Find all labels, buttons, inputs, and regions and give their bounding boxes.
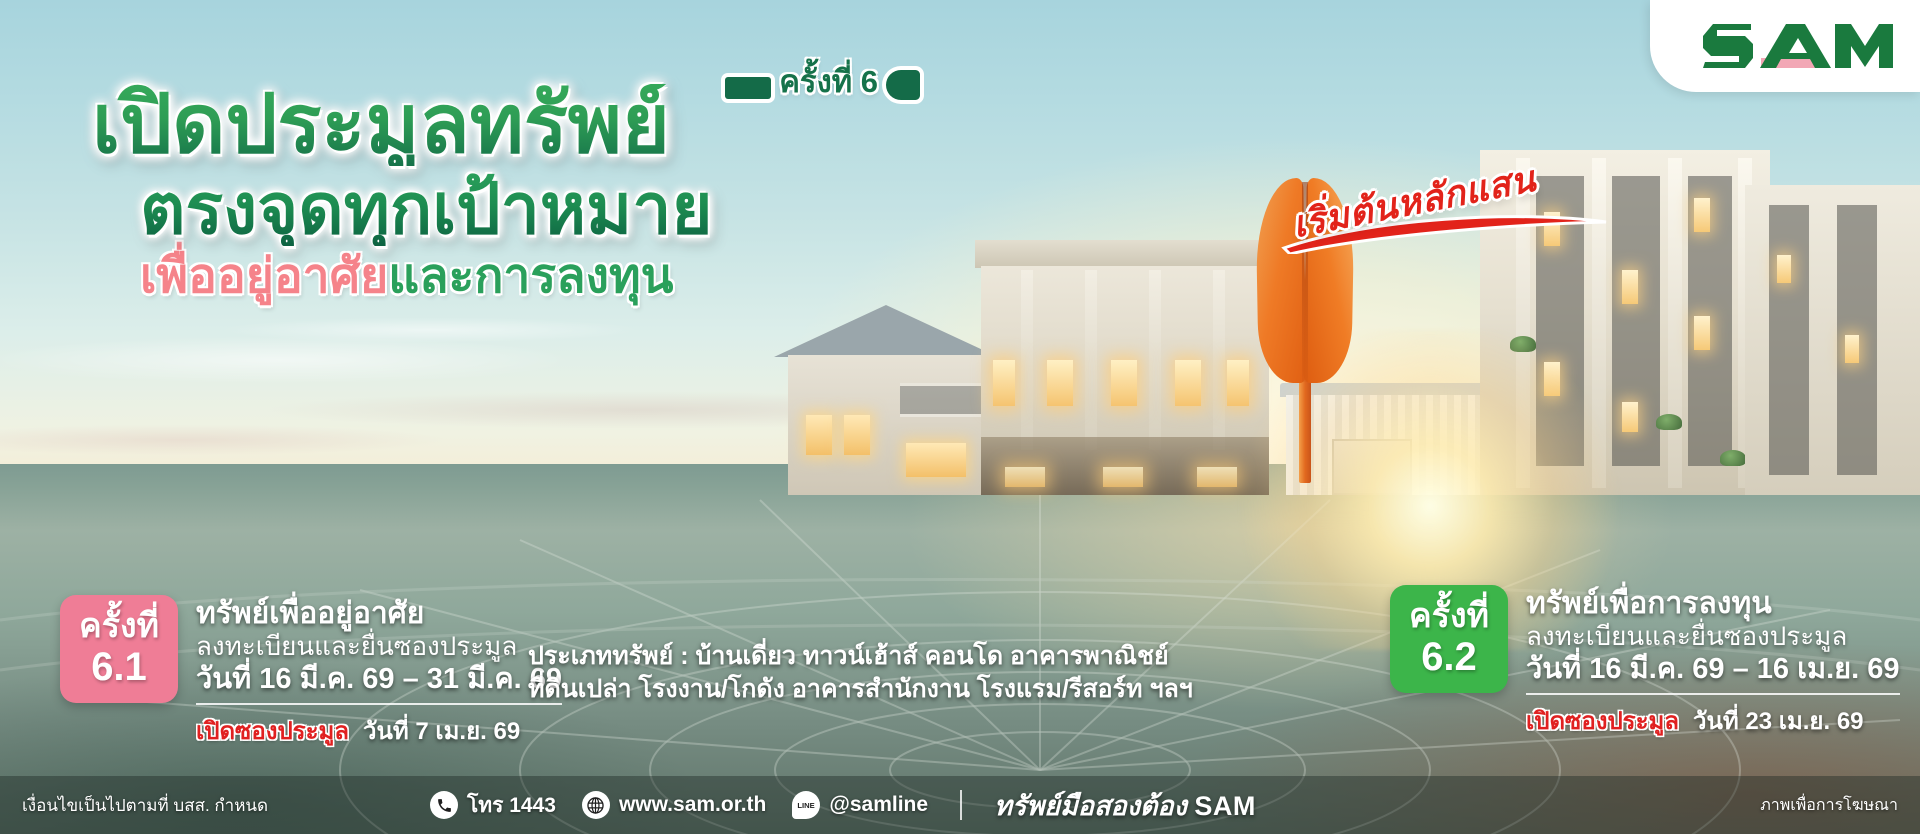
round-number-badge: ครั้งที่ 6 xyxy=(725,56,920,106)
property-types-key: ประเภททรัพย์ : xyxy=(528,642,689,670)
phone-icon xyxy=(430,791,458,819)
property-types-block: ประเภททรัพย์ : บ้านเดี่ยว ทาวน์เฮ้าส์ คอ… xyxy=(528,640,1128,706)
headline-line-3-green: และการลงทุน xyxy=(388,250,673,303)
footer-divider xyxy=(960,790,962,820)
round-6-1-title: ทรัพย์เพื่ออยู่อาศัย xyxy=(196,597,562,631)
footer-contact-group: โทร 1443 www.sam.or.th LINE xyxy=(430,784,1256,827)
badge-bar-left-icon xyxy=(725,77,771,99)
footer-bar: เงื่อนไขเป็นไปตามที่ บสส. กำหนด โทร 1443 xyxy=(0,776,1920,834)
round-6-1-open-row: เปิดซองประมูล วันที่ 7 เม.ย. 69 xyxy=(196,711,562,750)
round-6-1-open-date: วันที่ 7 เม.ย. 69 xyxy=(363,711,520,750)
round-6-2-divider xyxy=(1526,693,1900,695)
footer-website-item[interactable]: www.sam.or.th xyxy=(582,791,766,819)
round-6-1-badge-number: 6.1 xyxy=(66,645,172,689)
round-6-1-badge: ครั้งที่ 6.1 xyxy=(60,595,178,703)
footer-phone-item[interactable]: โทร 1443 xyxy=(430,789,556,822)
round-6-2-open-date: วันที่ 23 เม.ย. 69 xyxy=(1693,701,1864,740)
footer-line-id-text: @samline xyxy=(829,793,928,817)
svg-text:LINE: LINE xyxy=(798,801,815,810)
property-types-values-1: บ้านเดี่ยว ทาวน์เฮ้าส์ คอนโด อาคารพาณิชย… xyxy=(689,642,1169,670)
round-6-2-block: ครั้งที่ 6.2 ทรัพย์เพื่อการลงทุน ลงทะเบี… xyxy=(1390,585,1900,740)
globe-icon xyxy=(582,791,610,819)
footer-website-text: www.sam.or.th xyxy=(619,793,766,817)
round-6-1-date-range: วันที่ 16 มี.ค. 69 – 31 มี.ค. 69 xyxy=(196,662,562,696)
starting-price-ribbon: เริ่มต้นหลักแสน xyxy=(1290,160,1640,270)
round-6-2-badge-number: 6.2 xyxy=(1396,635,1502,679)
footer-slogan: ทรัพย์มือสองต้อง SAM xyxy=(994,784,1256,827)
round-6-2-badge: ครั้งที่ 6.2 xyxy=(1390,585,1508,693)
detached-house-illustration xyxy=(780,305,995,495)
property-types-line-1: ประเภททรัพย์ : บ้านเดี่ยว ทาวน์เฮ้าส์ คอ… xyxy=(528,640,1128,673)
round-6-1-open-label: เปิดซองประมูล xyxy=(196,711,349,750)
property-types-line-2: ที่ดินเปล่า โรงงาน/โกดัง อาคารสำนักงาน โ… xyxy=(528,673,1128,706)
round-6-2-open-row: เปิดซองประมูล วันที่ 23 เม.ย. 69 xyxy=(1526,701,1900,740)
auction-banner: เริ่มต้นหลักแสน เปิดประมูลทรัพย์ ครั้งที… xyxy=(0,0,1920,834)
back-building-illustration xyxy=(1745,185,1920,495)
round-6-2-open-label: เปิดซองประมูล xyxy=(1526,701,1679,740)
footer-phone-text: โทร 1443 xyxy=(467,789,556,822)
round-6-1-badge-label: ครั้งที่ xyxy=(66,607,172,645)
line-app-icon: LINE xyxy=(792,791,820,819)
headline-line-3: เพื่ออยู่อาศัยและการลงทุน xyxy=(140,250,912,304)
round-6-1-divider xyxy=(196,703,562,705)
headline-line-2: ตรงจุดทุกเป้าหมาย xyxy=(140,172,912,246)
footer-slogan-brand: SAM xyxy=(1194,791,1256,821)
round-6-1-block: ครั้งที่ 6.1 ทรัพย์เพื่ออยู่อาศัย ลงทะเบ… xyxy=(60,595,562,750)
round-6-2-title: ทรัพย์เพื่อการลงทุน xyxy=(1526,587,1900,621)
footer-line-item[interactable]: LINE @samline xyxy=(792,791,928,819)
round-number-text: ครั้งที่ 6 xyxy=(779,56,878,106)
round-6-2-date-range: วันที่ 16 มี.ค. 69 – 16 เม.ย. 69 xyxy=(1526,652,1900,686)
round-6-2-details: ทรัพย์เพื่อการลงทุน ลงทะเบียนและยื่นซองป… xyxy=(1526,585,1900,740)
footer-ad-note: ภาพเพื่อการโฆษณา xyxy=(1760,793,1898,818)
sam-logo-icon xyxy=(1703,18,1893,74)
round-6-2-badge-label: ครั้งที่ xyxy=(1396,597,1502,635)
badge-bar-right-icon xyxy=(886,70,920,100)
round-6-1-details: ทรัพย์เพื่ออยู่อาศัย ลงทะเบียนและยื่นซอง… xyxy=(196,595,562,750)
round-6-1-subtitle: ลงทะเบียนและยื่นซองประมูล xyxy=(196,631,562,662)
headline-line-3-pink: เพื่ออยู่อาศัย xyxy=(140,250,388,303)
footer-slogan-thai: ทรัพย์มือสองต้อง xyxy=(994,791,1187,821)
round-6-2-subtitle: ลงทะเบียนและยื่นซองประมูล xyxy=(1526,621,1900,652)
footer-disclaimer: เงื่อนไขเป็นไปตามที่ บสส. กำหนด xyxy=(22,792,268,819)
headline-block: เปิดประมูลทรัพย์ ครั้งที่ 6 ตรงจุดทุกเป้… xyxy=(92,84,912,304)
sam-logo-card[interactable] xyxy=(1650,0,1920,92)
